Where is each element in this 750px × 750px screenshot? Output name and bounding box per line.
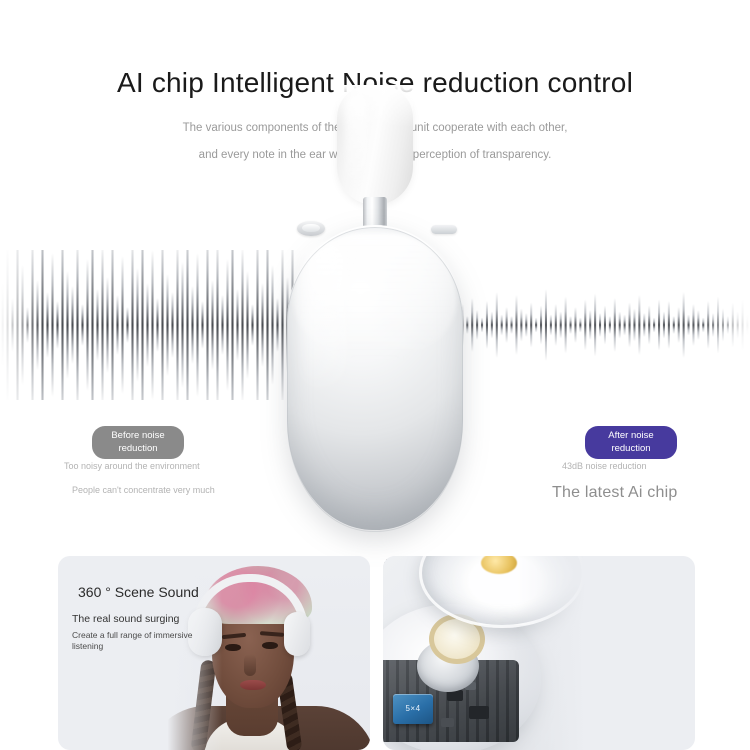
woman-nose — [244, 654, 256, 676]
headband-fade — [337, 85, 413, 127]
photo-driver-assembly: 5×4 — [383, 556, 613, 750]
badge-after-noise-reduction: After noise reduction — [585, 426, 677, 459]
card-diaphragm: 5×4 40mm composite titanium-plated diaph… — [383, 556, 695, 750]
badge-before-noise-reduction: Before noise reduction — [92, 426, 184, 459]
smd-component-3 — [441, 718, 454, 727]
card-scene-sound-title: 360 ° Scene Sound — [78, 584, 199, 600]
ai-chip-label: 5×4 — [393, 694, 433, 724]
worn-headphone-earcup-right — [284, 612, 310, 656]
before-text-line-1: Too noisy around the environment — [64, 461, 214, 473]
woman-eye-right — [262, 642, 278, 649]
digital-crown-icon — [297, 221, 325, 236]
smd-component-2 — [469, 706, 489, 719]
headphone-product-image — [275, 85, 475, 555]
woman-eye-left — [225, 644, 241, 651]
card-scene-sound: 360 ° Scene Sound The real sound surging… — [58, 556, 370, 750]
before-text-line-2: People can't concentrate very much — [72, 485, 222, 497]
woman-lips — [240, 680, 266, 690]
noise-control-button-icon — [431, 225, 457, 234]
waveform-before-noise-reduction — [0, 250, 300, 400]
earcup-rim — [287, 225, 463, 532]
after-text-line-1: 43dB noise reduction — [562, 461, 692, 473]
waveform-after-noise-reduction — [455, 250, 750, 400]
card-scene-sound-description: Create a full range of immersive listeni… — [72, 630, 197, 651]
latest-ai-chip-headline: The latest Ai chip — [552, 484, 677, 502]
photo-right-fade — [517, 556, 613, 750]
card-scene-sound-subtitle: The real sound surging — [72, 613, 179, 625]
product-marketing-page: AI chip Intelligent Noise reduction cont… — [0, 0, 750, 750]
